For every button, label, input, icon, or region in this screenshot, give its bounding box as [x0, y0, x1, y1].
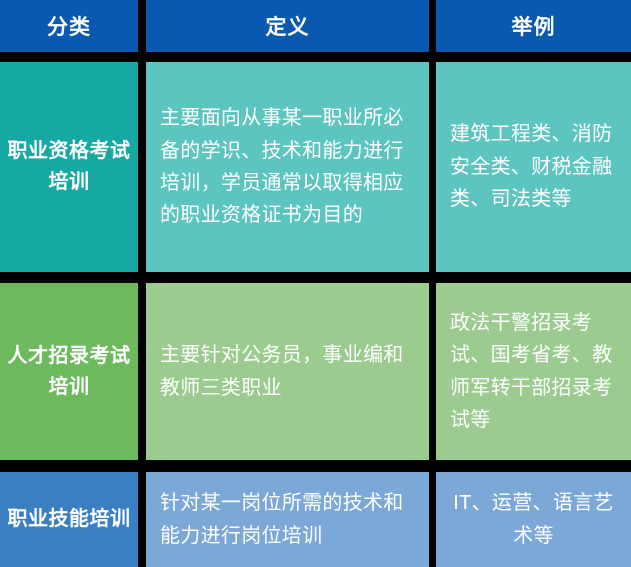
category-label-row-2: 人才招录考试培训	[0, 341, 138, 403]
definition-cell-row-1: 主要面向从事某一职业所必备的学识、技术和能力进行培训，学员通常以取得相应的职业资…	[146, 62, 429, 272]
definition-cell-row-3: 针对某一岗位所需的技术和能力进行岗位培训	[146, 472, 429, 567]
table-row: 职业技能培训	[0, 472, 138, 567]
table-header-definition: 定义	[146, 0, 429, 52]
example-cell-row-1: 建筑工程类、消防安全类、财税金融类、司法类等	[436, 62, 631, 272]
example-text-row-1: 建筑工程类、消防安全类、财税金融类、司法类等	[450, 118, 617, 215]
category-label-row-1: 职业资格考试培训	[0, 136, 138, 198]
definition-text-row-3: 针对某一岗位所需的技术和能力进行岗位培训	[160, 487, 415, 552]
table-header-category-label: 分类	[47, 11, 91, 41]
comparison-table: 分类 定义 举例 职业资格考试培训 主要面向从事某一职业所必备的学识、技术和能力…	[0, 0, 631, 567]
category-label-row-3: 职业技能培训	[0, 504, 138, 535]
table-header-definition-label: 定义	[266, 11, 310, 41]
definition-cell-row-2: 主要针对公务员，事业编和教师三类职业	[146, 283, 429, 460]
table-header-example: 举例	[436, 0, 631, 52]
example-cell-row-3: IT、运营、语言艺术等	[436, 472, 631, 567]
definition-text-row-2: 主要针对公务员，事业编和教师三类职业	[160, 339, 415, 404]
table-header-category: 分类	[0, 0, 138, 52]
example-cell-row-2: 政法干警招录考试、国考省考、教师军转干部招录考试等	[436, 283, 631, 460]
definition-text-row-1: 主要面向从事某一职业所必备的学识、技术和能力进行培训，学员通常以取得相应的职业资…	[160, 102, 415, 232]
example-text-row-2: 政法干警招录考试、国考省考、教师军转干部招录考试等	[450, 307, 617, 437]
example-text-row-3: IT、运营、语言艺术等	[450, 487, 617, 552]
table-row: 人才招录考试培训	[0, 283, 138, 460]
table-row: 职业资格考试培训	[0, 62, 138, 272]
table-header-example-label: 举例	[512, 11, 556, 41]
